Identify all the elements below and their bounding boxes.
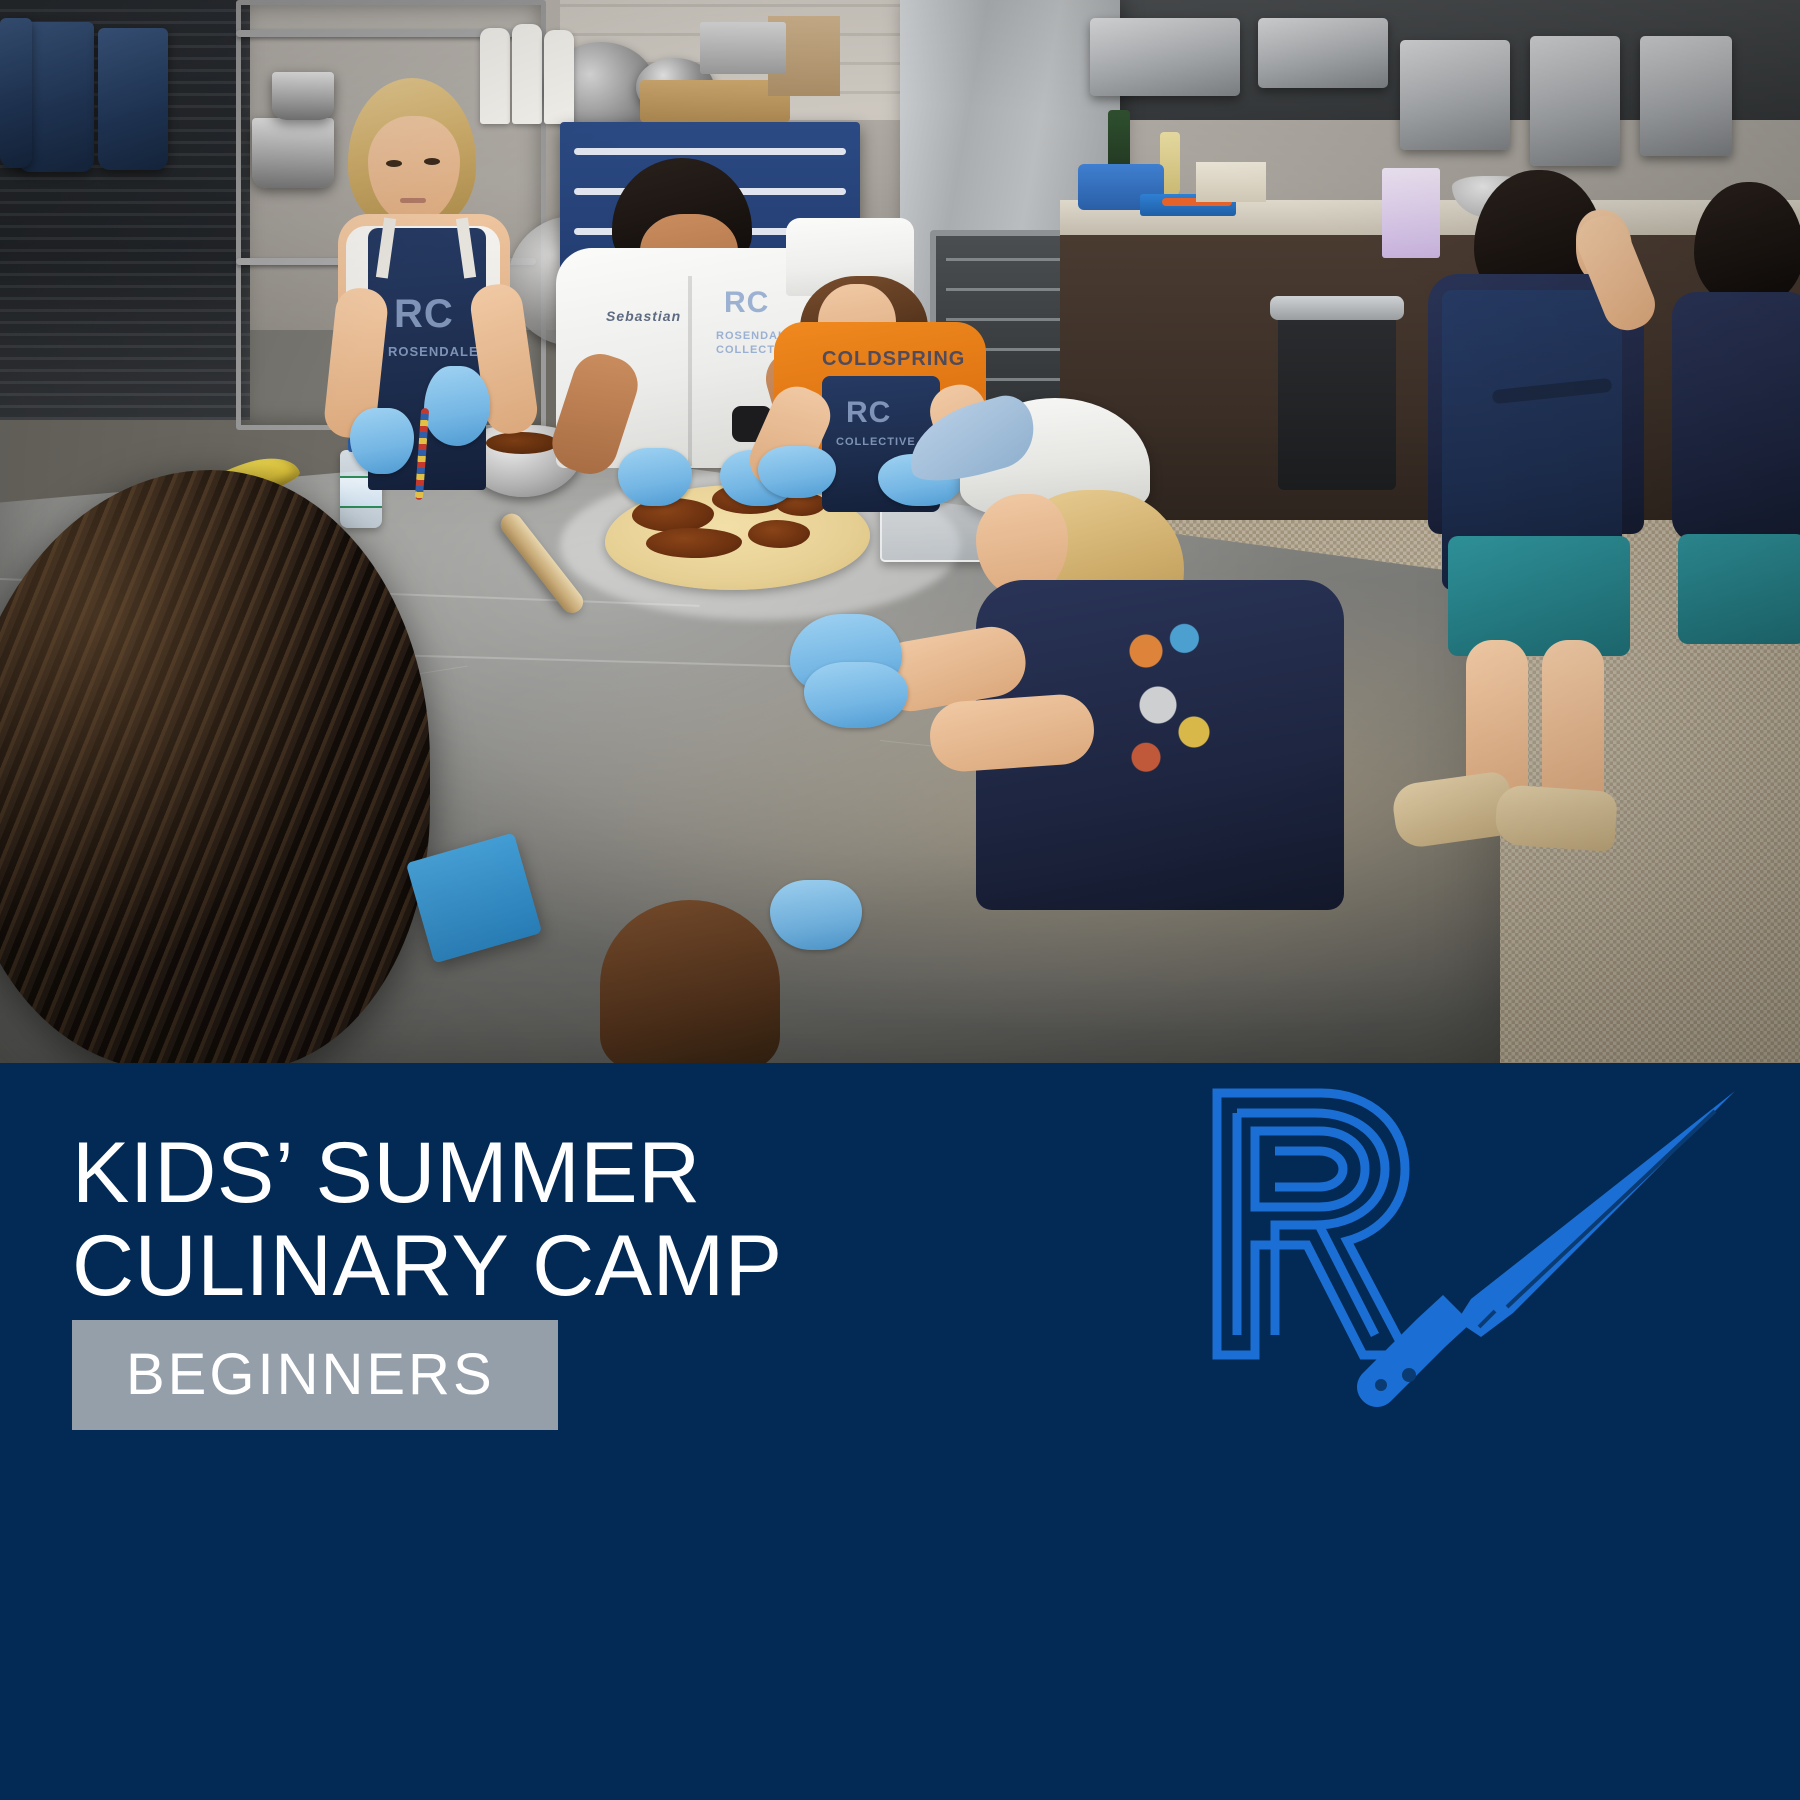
blue-glove xyxy=(424,366,490,446)
sheet-pan xyxy=(700,22,786,74)
mixer xyxy=(1400,40,1510,150)
blue-glove xyxy=(350,408,414,474)
arm xyxy=(928,692,1096,773)
toaster-oven xyxy=(1258,18,1388,88)
hero-photo: RC ROSENDALE Sebastian RC ROSENDALE COLL… xyxy=(0,0,1800,1063)
foreground-person-hair xyxy=(0,470,430,1063)
food-processor xyxy=(1640,36,1732,156)
shorts xyxy=(1678,534,1800,644)
letter-r-outline-icon xyxy=(1217,1093,1407,1355)
headline-line-2: CULINARY CAMP xyxy=(72,1220,1122,1313)
brand-logo xyxy=(1195,1085,1755,1415)
microwave xyxy=(1090,18,1240,96)
apron-logo-rc: RC xyxy=(394,292,454,337)
hanging-shirt xyxy=(0,18,32,168)
camper-blonde-girl: RC ROSENDALE xyxy=(320,78,560,498)
camper-white-cap xyxy=(780,398,1380,918)
headline-line-1: KIDS’ SUMMER xyxy=(72,1127,1122,1220)
person-edge-right xyxy=(1672,182,1800,742)
cinnamon-filling xyxy=(646,528,742,558)
adult-right xyxy=(1400,170,1660,860)
produce-box xyxy=(1196,162,1266,202)
page-title: KIDS’ SUMMER CULINARY CAMP xyxy=(72,1127,1122,1313)
apron-brand-text: ROSENDALE xyxy=(388,344,479,359)
blue-glove-foreground xyxy=(770,880,862,950)
mouth xyxy=(400,198,426,203)
coat-placket xyxy=(688,276,692,466)
sneaker xyxy=(1494,784,1618,852)
hanging-shirt xyxy=(98,28,168,170)
tshirt-graphic xyxy=(1110,606,1230,786)
tshirt-text: COLDSPRING xyxy=(822,348,965,371)
chef-coat-embroidery-name: Sebastian xyxy=(606,308,681,324)
level-badge-box: BEGINNERS xyxy=(72,1320,558,1430)
chef-knife-icon xyxy=(1357,1091,1735,1407)
poster-root: RC ROSENDALE Sebastian RC ROSENDALE COLL… xyxy=(0,0,1800,1800)
level-badge-label: BEGINNERS xyxy=(126,1346,506,1404)
eye xyxy=(386,160,402,167)
blue-glove xyxy=(618,448,692,506)
level-badge: BEGINNERS xyxy=(72,1320,558,1430)
foreground-head-2 xyxy=(600,900,780,1063)
hair xyxy=(1694,182,1800,308)
top xyxy=(1672,292,1800,542)
blue-glove xyxy=(804,662,908,728)
blender xyxy=(1530,36,1620,166)
shorts xyxy=(1448,536,1630,656)
eye xyxy=(424,158,440,165)
